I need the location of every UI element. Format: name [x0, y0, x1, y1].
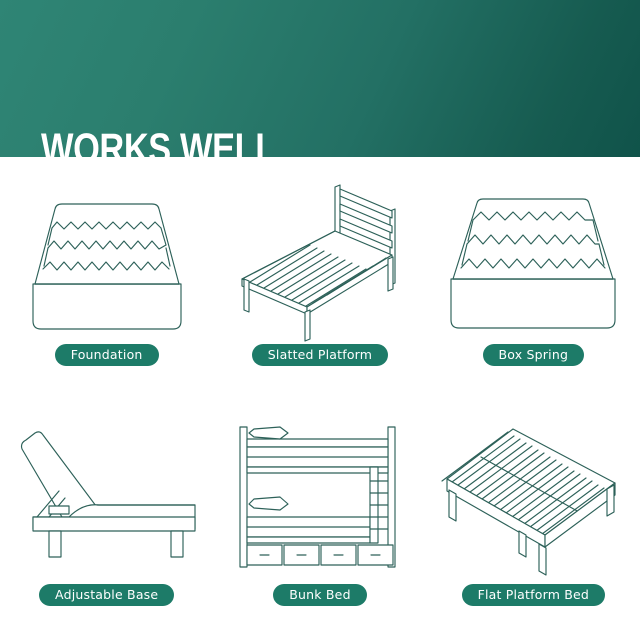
adjustable-base-icon	[9, 417, 205, 580]
page-title-line-1: WORKS WELL	[41, 124, 375, 157]
bunk-bed-icon	[222, 417, 418, 580]
slatted-platform-bed-icon	[222, 179, 418, 342]
base-label-box-spring: Box Spring	[483, 344, 585, 366]
base-label-adjustable-base: Adjustable Base	[39, 584, 174, 606]
base-label-bunk-bed: Bunk Bed	[273, 584, 366, 606]
flat-platform-bed-icon	[435, 417, 631, 580]
base-card-slatted-platform: Slatted Platform	[213, 157, 426, 399]
base-card-bunk-bed: Bunk Bed	[213, 399, 426, 640]
mattress-on-box-spring-icon	[435, 179, 631, 342]
infographic-page: WORKS WELL WITH THESE BASES	[0, 0, 640, 640]
bases-grid: Foundation	[0, 157, 640, 640]
page-title: WORKS WELL WITH THESE BASES	[41, 24, 375, 157]
base-label-flat-platform-bed: Flat Platform Bed	[462, 584, 606, 606]
base-card-adjustable-base: Adjustable Base	[0, 399, 213, 640]
base-card-box-spring: Box Spring	[427, 157, 640, 399]
base-label-foundation: Foundation	[55, 344, 159, 366]
base-label-slatted-platform: Slatted Platform	[252, 344, 388, 366]
header-banner: WORKS WELL WITH THESE BASES	[0, 0, 640, 157]
mattress-on-foundation-icon	[9, 179, 205, 342]
base-card-flat-platform-bed: Flat Platform Bed	[427, 399, 640, 640]
base-card-foundation: Foundation	[0, 157, 213, 399]
